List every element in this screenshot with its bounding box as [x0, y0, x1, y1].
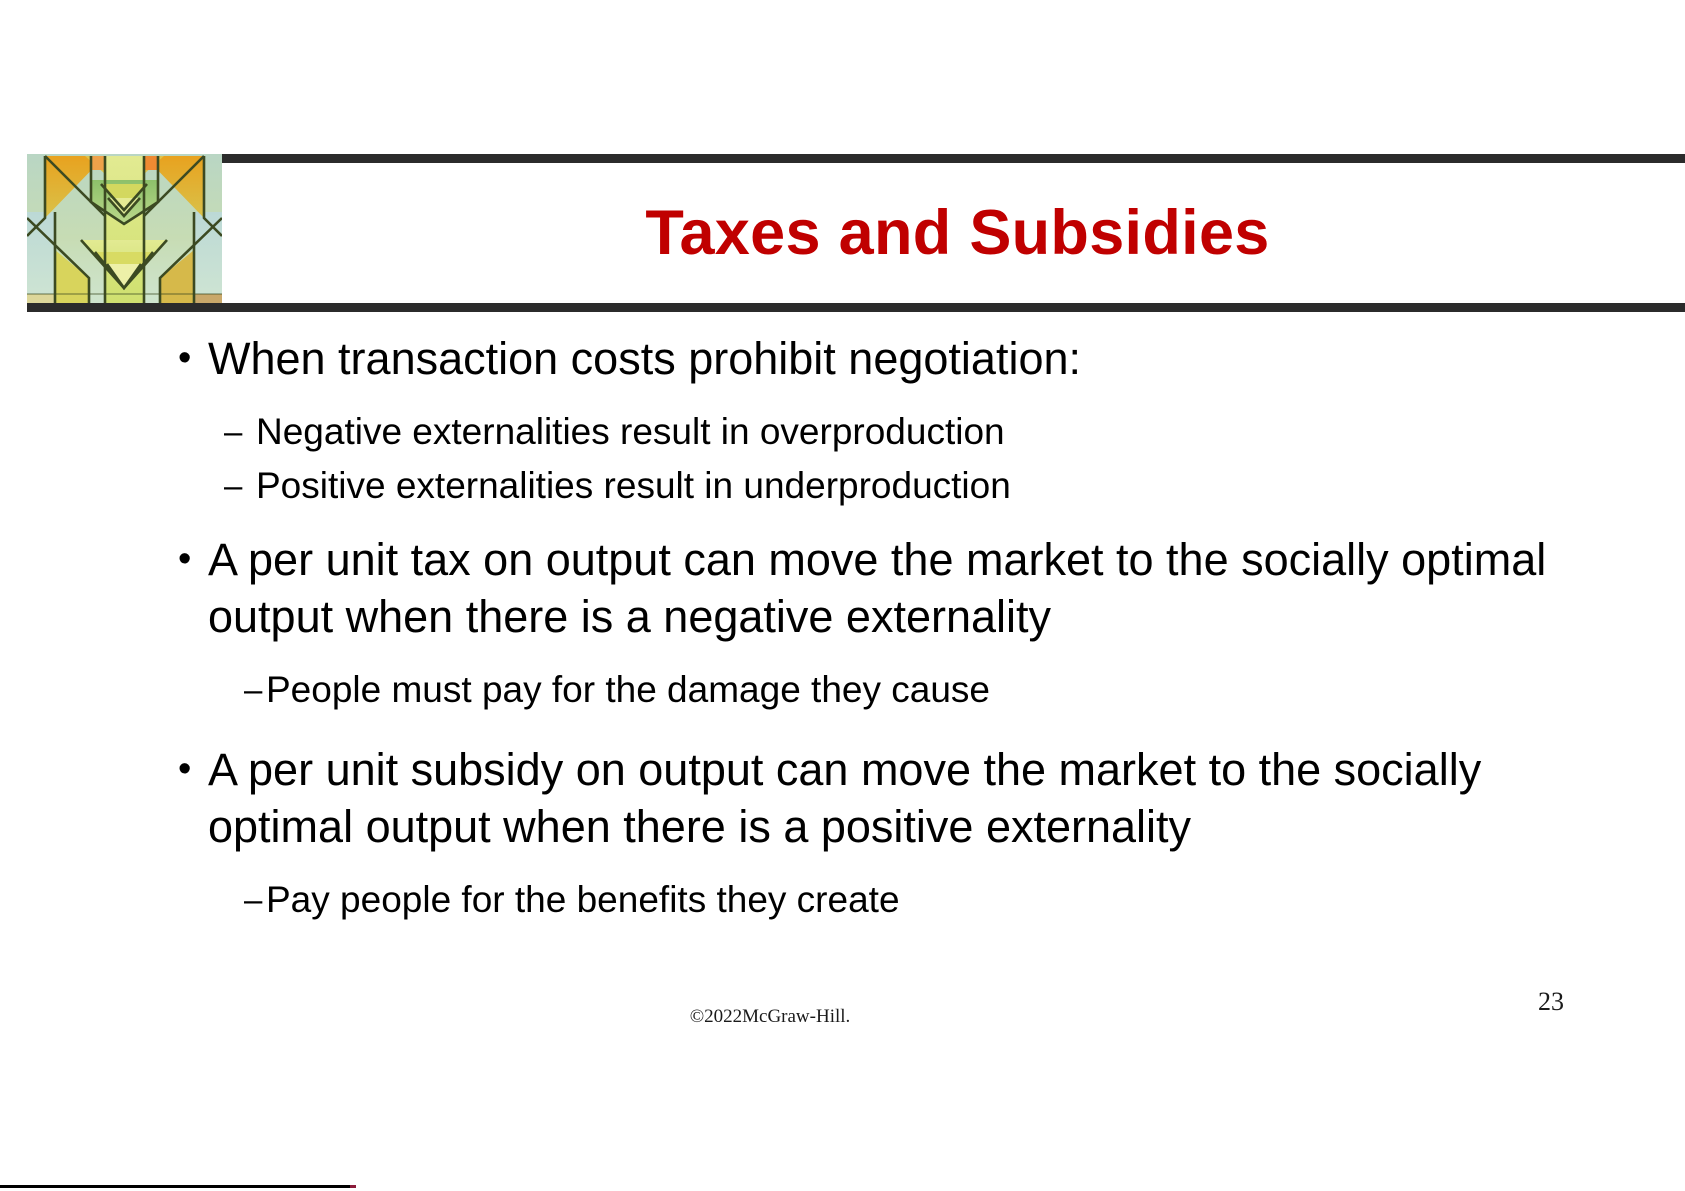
- bullet-marker-dash: –: [224, 461, 256, 511]
- spacer: [178, 719, 1598, 739]
- bullet-level1: • A per unit subsidy on output can move …: [178, 741, 1598, 855]
- bullet-level2: – Pay people for the benefits they creat…: [244, 875, 1598, 925]
- bullet-text: People must pay for the damage they caus…: [266, 665, 1598, 715]
- bullet-text: A per unit subsidy on output can move th…: [208, 741, 1598, 855]
- bullet-marker-dot: •: [178, 741, 208, 798]
- bullet-text: Pay people for the benefits they create: [266, 875, 1598, 925]
- slide-canvas: Taxes and Subsidies • When transaction c…: [0, 0, 1685, 1191]
- bullet-text: Negative externalities result in overpro…: [256, 407, 1598, 457]
- bottom-rule-tick: [350, 1185, 356, 1188]
- slide-title-text: Taxes and Subsidies: [645, 200, 1269, 266]
- copyright-notice: ©2022McGraw-Hill.: [0, 1006, 1540, 1028]
- bullet-level2: – Positive externalities result in under…: [224, 461, 1598, 511]
- bullet-marker-dot: •: [178, 330, 208, 387]
- slide-body: • When transaction costs prohibit negoti…: [178, 328, 1598, 929]
- spacer: [178, 515, 1598, 529]
- bullet-text: When transaction costs prohibit negotiat…: [208, 330, 1598, 387]
- bullet-text: A per unit tax on output can move the ma…: [208, 531, 1598, 645]
- bullet-level2: – Negative externalities result in overp…: [224, 407, 1598, 457]
- bullet-level1: • When transaction costs prohibit negoti…: [178, 330, 1598, 387]
- bullet-marker-dash: –: [244, 875, 266, 925]
- bullet-marker-dash: –: [244, 665, 266, 715]
- bullet-marker-dot: •: [178, 531, 208, 588]
- slide-page-number: 23: [1538, 987, 1618, 1017]
- stained-glass-logo-icon: [27, 154, 222, 306]
- bullet-marker-dash: –: [224, 407, 256, 457]
- header-rule-top: [27, 154, 1685, 163]
- header-rule-bottom: [27, 303, 1685, 312]
- spacer: [178, 647, 1598, 661]
- spacer: [178, 389, 1598, 403]
- bullet-level1: • A per unit tax on output can move the …: [178, 531, 1598, 645]
- bullet-level2: – People must pay for the damage they ca…: [244, 665, 1598, 715]
- slide-header: Taxes and Subsidies: [0, 154, 1685, 312]
- slide-title: Taxes and Subsidies: [230, 163, 1685, 303]
- bottom-rule: [0, 1185, 350, 1188]
- bullet-text: Positive externalities result in underpr…: [256, 461, 1598, 511]
- spacer: [178, 857, 1598, 871]
